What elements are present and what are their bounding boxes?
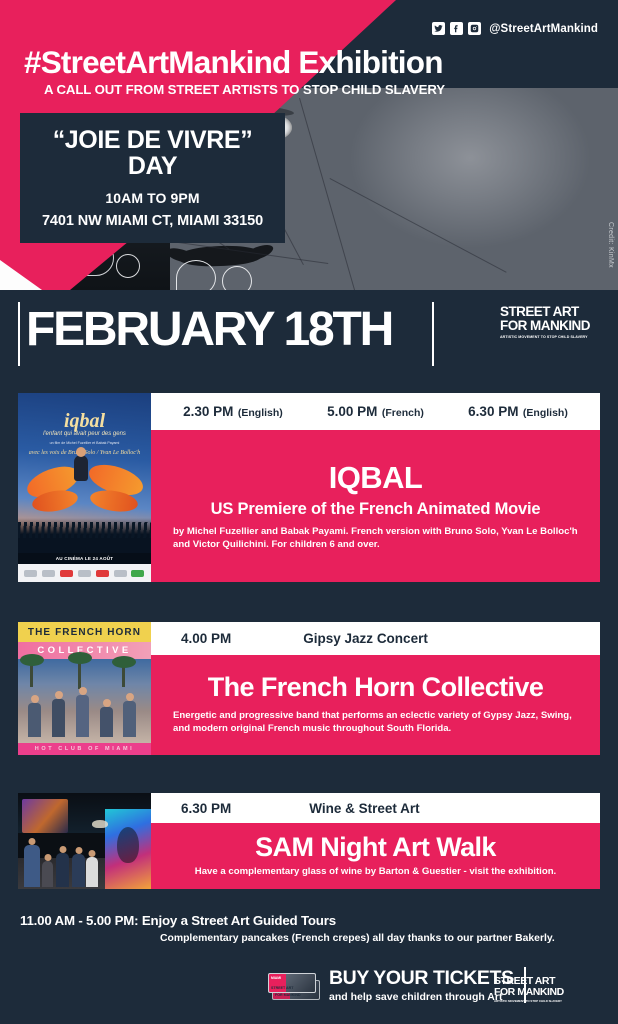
buy-tickets-cta[interactable]: FOR MANKIND MIAMI STREET ART BUY YOUR TI… — [268, 967, 526, 1003]
crowd-person — [42, 861, 53, 887]
horn-time-row: 4.00 PM Gipsy Jazz Concert — [151, 622, 600, 655]
iqbal-title: IQBAL — [329, 460, 422, 496]
horn-album-footer: HOT CLUB OF MIAMI — [35, 746, 135, 752]
walk-photo-thumbnail — [18, 793, 151, 889]
horn-time: 4.00 PM — [181, 631, 231, 646]
street-light — [92, 820, 108, 828]
crowd-person — [24, 845, 40, 887]
date-rule-left — [18, 302, 20, 366]
horn-album-band-top: THE FRENCH HORN — [18, 622, 151, 642]
walk-details: 6.30 PM Wine & Street Art SAM Night Art … — [151, 793, 600, 889]
event-card-iqbal[interactable]: iqbal l'enfant qui avait peur des gens u… — [18, 393, 600, 582]
guided-tours-note: 11.00 AM - 5.00 PM: Enjoy a Street Art G… — [20, 913, 336, 928]
showtime-3-lang: (English) — [523, 407, 568, 419]
iqbal-release-band: AU CINÉMA LE 24 AOÛT — [18, 553, 151, 564]
info-box-address: 7401 NW MIAMI CT, MIAMI 33150 — [20, 213, 285, 229]
showtime-3[interactable]: 6.30 PM (English) — [468, 403, 568, 421]
ticket-stack-icon: FOR MANKIND MIAMI STREET ART — [268, 968, 320, 1002]
iqbal-showtimes: 2.30 PM (English) 5.00 PM (French) 6.30 … — [151, 393, 600, 430]
walk-content: SAM Night Art Walk Have a complementary … — [151, 823, 600, 889]
page-title: #StreetArtMankind Exhibition — [24, 44, 443, 81]
sam-logo-tagline: ARTISTIC MOVEMENT TO STOP CHILD SLAVERY — [500, 335, 602, 339]
horn-description: Energetic and progressive band that perf… — [163, 710, 588, 735]
info-box-hours: 10AM TO 9PM — [20, 190, 285, 206]
buy-tickets-subline: and help save children through Art — [329, 991, 514, 1003]
showtime-2-lang: (French) — [382, 407, 424, 419]
event-card-french-horn[interactable]: THE FRENCH HORN COLLECTIVE HOT CLUB OF M… — [18, 622, 600, 755]
iqbal-grass — [18, 518, 151, 554]
palm-tree — [122, 663, 125, 687]
sam-logo-line1: STREET ART — [500, 305, 602, 319]
sponsor-logo — [131, 570, 144, 577]
showtime-1-time: 2.30 PM — [183, 404, 233, 419]
horn-details: 4.00 PM Gipsy Jazz Concert The French Ho… — [151, 622, 600, 755]
iqbal-sponsor-strip — [18, 564, 151, 582]
band-member — [123, 701, 136, 737]
event-date: FEBRUARY 18TH — [26, 298, 392, 363]
page-subtitle: A CALL OUT FROM STREET ARTISTS TO STOP C… — [44, 82, 445, 97]
buy-tickets-headline: BUY YOUR TICKETS — [329, 967, 514, 990]
wall-mural-right — [105, 809, 151, 889]
sponsor-logo — [60, 570, 73, 577]
crowd-person — [72, 854, 85, 887]
face-crack-4 — [330, 178, 507, 273]
twitter-icon[interactable] — [432, 22, 445, 35]
walk-description: Have a complementary glass of wine by Ba… — [195, 866, 556, 879]
walk-category: Wine & Street Art — [309, 801, 419, 816]
crowd-person — [86, 857, 98, 887]
event-card-night-art-walk[interactable]: 6.30 PM Wine & Street Art SAM Night Art … — [18, 793, 600, 889]
sponsor-logo — [42, 570, 55, 577]
showtime-1[interactable]: 2.30 PM (English) — [183, 403, 283, 421]
footer-bar: FOR MANKIND MIAMI STREET ART BUY YOUR TI… — [0, 962, 618, 1024]
band-member — [28, 703, 41, 737]
iqbal-subtitle: US Premiere of the French Animated Movie — [211, 500, 541, 519]
iqbal-poster-thumbnail: iqbal l'enfant qui avait peur des gens u… — [18, 393, 151, 582]
ticket-front: MIAMI STREET ART — [268, 973, 316, 993]
ticket-label-mid: STREET ART — [271, 986, 293, 990]
horn-content: The French Horn Collective Energetic and… — [151, 655, 600, 755]
horn-album-line1: THE FRENCH HORN — [28, 627, 141, 638]
showtime-2-time: 5.00 PM — [327, 404, 377, 419]
iqbal-poster-title: iqbal — [18, 410, 151, 433]
iqbal-boy-figure — [74, 455, 88, 481]
facebook-icon[interactable] — [450, 22, 463, 35]
footer-logo-line2: FOR MANKIND — [494, 987, 580, 998]
iqbal-details: 2.30 PM (English) 5.00 PM (French) 6.30 … — [151, 393, 600, 582]
social-handle[interactable]: @StreetArtMankind — [489, 23, 598, 35]
showtime-3-time: 6.30 PM — [468, 404, 518, 419]
doodle-shape — [176, 260, 216, 290]
walk-title: SAM Night Art Walk — [255, 832, 496, 863]
horn-album-art: THE FRENCH HORN COLLECTIVE HOT CLUB OF M… — [18, 622, 151, 755]
wall-mural-left — [22, 799, 68, 833]
palm-tree — [78, 659, 81, 689]
showtime-1-lang: (English) — [238, 407, 283, 419]
walk-time-row: 6.30 PM Wine & Street Art — [151, 793, 600, 823]
sponsor-logo — [24, 570, 37, 577]
hero-section: @StreetArtMankind #StreetArtMankind Exhi… — [0, 0, 618, 290]
band-member — [76, 695, 89, 737]
doodle-circle — [222, 266, 252, 290]
footer-logo-line1: STREET ART — [494, 976, 580, 987]
iqbal-description: by Michel Fuzellier and Babak Payami. Fr… — [163, 526, 588, 551]
footer-logo-tagline: ARTISTIC MOVEMENT TO STOP CHILD SLAVERY — [494, 999, 580, 1003]
social-links[interactable]: @StreetArtMankind — [432, 22, 598, 35]
info-box-line2: DAY — [20, 153, 285, 180]
photo-credit: Credit: KinMx — [607, 222, 614, 268]
event-info-box: “JOIE DE VIVRE” DAY 10AM TO 9PM 7401 NW … — [20, 113, 285, 243]
iqbal-poster-tagline: l'enfant qui avait peur des gens — [18, 431, 151, 437]
date-rule-right — [432, 302, 434, 366]
band-member — [52, 699, 65, 737]
horn-album-thumbnail: THE FRENCH HORN COLLECTIVE HOT CLUB OF M… — [18, 622, 151, 755]
showtime-2[interactable]: 5.00 PM (French) — [327, 403, 424, 421]
sponsor-logo — [78, 570, 91, 577]
walk-photo-art — [18, 793, 151, 889]
crowd-person — [56, 853, 69, 887]
band-member — [100, 707, 113, 737]
horn-band-scene — [18, 659, 151, 743]
iqbal-poster-art: iqbal l'enfant qui avait peur des gens u… — [18, 393, 151, 582]
doodle-circle — [116, 254, 140, 278]
iqbal-poster-credits: un film de Michel Fuzellier et Babak Pay… — [18, 441, 151, 445]
sam-logo-header: STREET ART FOR MANKIND ARTISTIC MOVEMENT… — [500, 305, 602, 339]
sponsor-logo — [96, 570, 109, 577]
info-box-line1: “JOIE DE VIVRE” — [20, 127, 285, 153]
iqbal-release-text: AU CINÉMA LE 24 AOÛT — [56, 556, 114, 561]
ticket-label-bot: FOR MANKIND — [275, 993, 301, 997]
walk-time: 6.30 PM — [181, 801, 231, 816]
instagram-icon[interactable] — [468, 22, 481, 35]
sponsor-logo — [114, 570, 127, 577]
horn-album-band-bottom: HOT CLUB OF MIAMI — [18, 743, 151, 755]
sam-logo-footer: STREET ART FOR MANKIND ARTISTIC MOVEMENT… — [494, 976, 580, 1003]
iqbal-content: IQBAL US Premiere of the French Animated… — [151, 430, 600, 582]
palm-tree — [30, 661, 33, 687]
horn-category: Gipsy Jazz Concert — [303, 631, 428, 646]
horn-title: The French Horn Collective — [208, 672, 543, 703]
ticket-label-top: MIAMI — [271, 976, 281, 980]
pancakes-note: Complementary pancakes (French crepes) a… — [160, 933, 555, 944]
sam-logo-line2: FOR MANKIND — [500, 319, 602, 333]
